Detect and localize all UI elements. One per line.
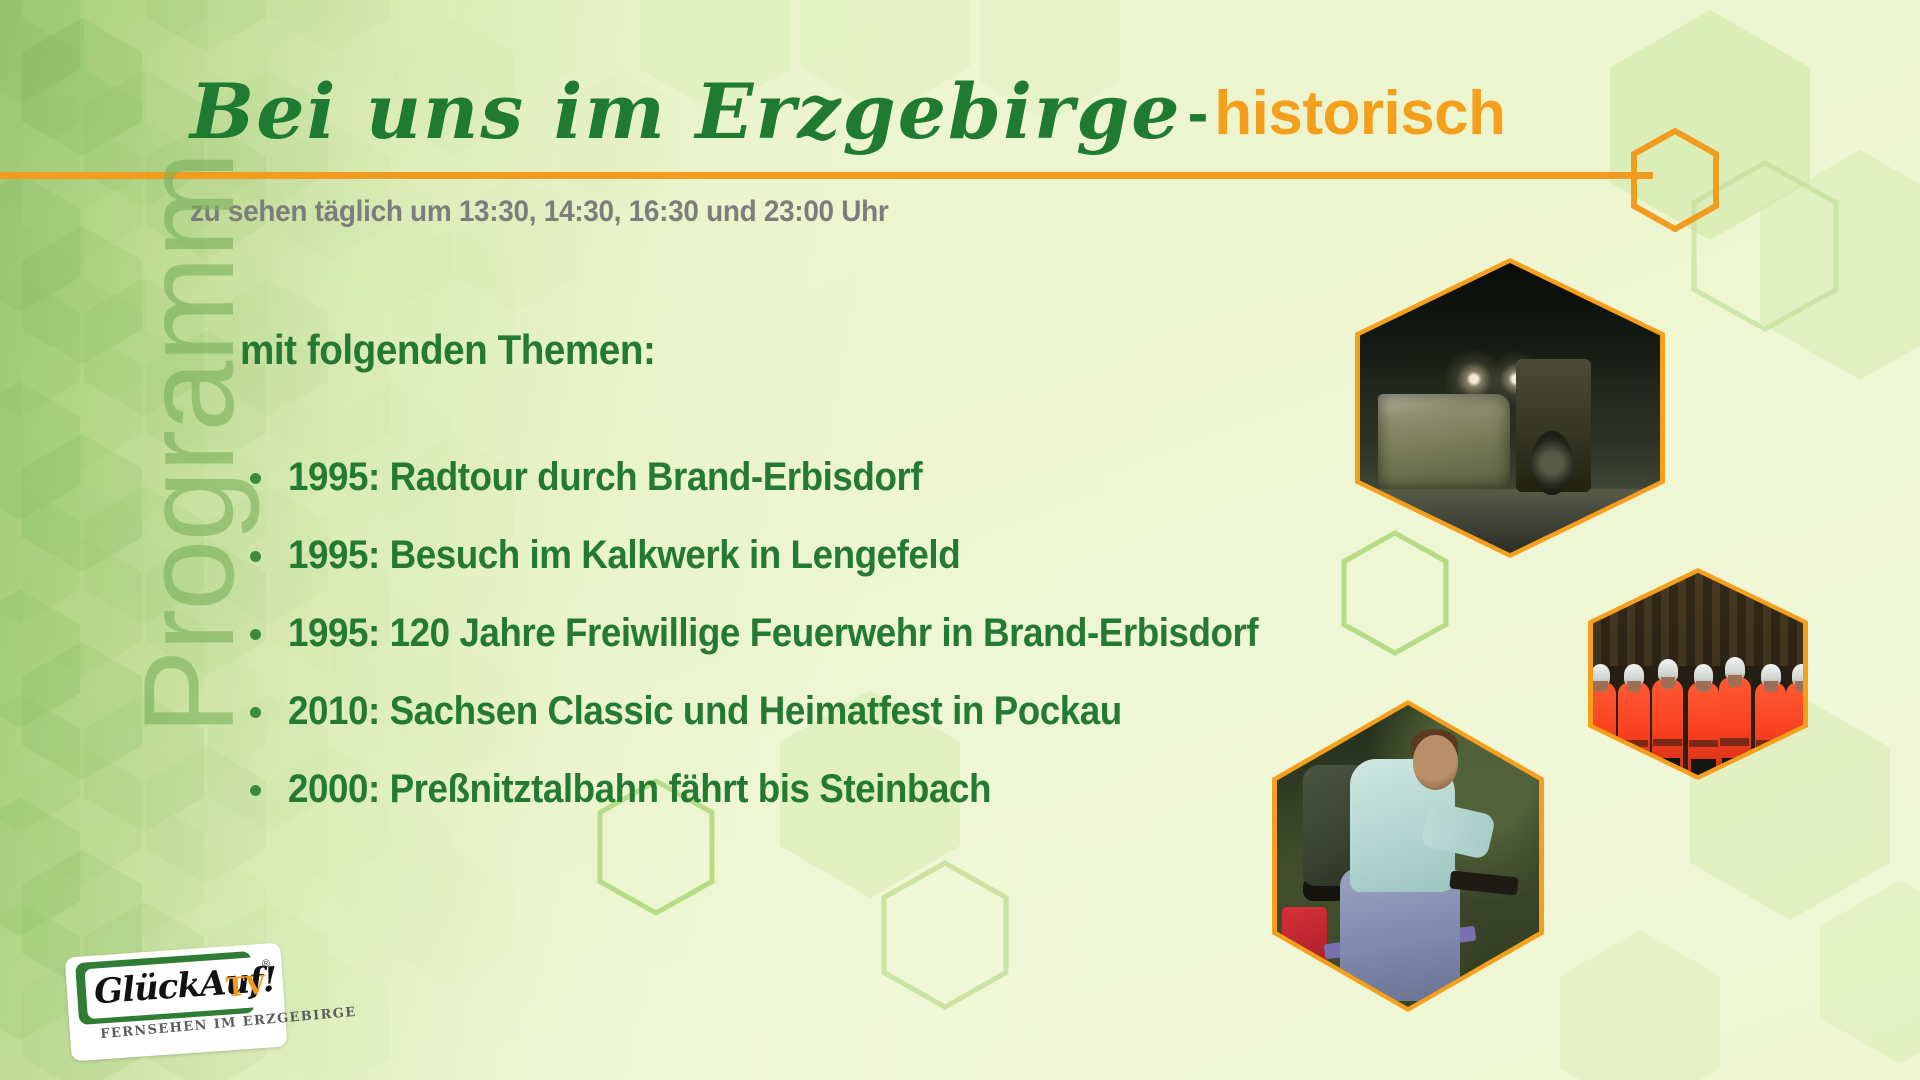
hexagon-photo-clip: 25. [1360,263,1660,553]
list-item: 1995: Besuch im Kalkwerk in Lengefeld [246,516,1426,594]
logo-registered-mark: ® [262,958,271,971]
firefighter [1618,650,1650,775]
loader-wheel [1531,431,1573,495]
list-item-label: 1995: Besuch im Kalkwerk in Lengefeld [288,516,960,594]
firefighter [1786,650,1803,775]
topics-list: 1995: Radtour durch Brand-Erbisdorf 1995… [246,438,1426,828]
list-item-label: 1995: 120 Jahre Freiwillige Feuerwehr in… [288,594,1258,672]
header-rule [0,172,1653,179]
page-title-dash: - [1182,79,1215,148]
list-item: 2000: Preßnitztalbahn fährt bis Steinbac… [246,750,1426,828]
photo-timestamp: 25. [1582,523,1624,547]
firefighter [1688,650,1720,775]
decorative-hexagon-outline [880,860,1010,1010]
logo-tv-mark: TV [225,971,267,1004]
cyclist-head [1413,735,1458,789]
list-item: 1995: 120 Jahre Freiwillige Feuerwehr in… [246,594,1426,672]
list-item-label: 2010: Sachsen Classic und Heimatfest in … [288,672,1122,750]
ground [1360,489,1660,553]
night-loader-scene: 25. [1360,263,1660,553]
list-item: 2010: Sachsen Classic und Heimatfest in … [246,672,1426,750]
list-item: 1995: Radtour durch Brand-Erbisdorf [246,438,1426,516]
page-title-main: Bei uns im Erzgebirge [190,67,1182,156]
loader-bucket [1378,394,1510,490]
header-rule-hexagon-icon [1630,128,1720,237]
page-title-accent: historisch [1214,79,1505,148]
list-item-label: 1995: Radtour durch Brand-Erbisdorf [288,438,922,516]
topics-intro-text: mit folgenden Themen: [240,326,655,374]
firefighter [1593,650,1616,775]
hexagon-photo-clip [1593,573,1803,775]
hexagon-photo-clip [1277,705,1539,1007]
page-title: Bei uns im Erzgebirge-historisch [190,74,1506,150]
slide-canvas: Bei uns im Erzgebirge-historisch zu sehe… [0,0,1920,1080]
cyclist-scene [1277,705,1539,1007]
firefighters-scene [1593,573,1803,775]
broadcast-times-subtitle: zu sehen täglich um 13:30, 14:30, 16:30 … [190,195,888,229]
glueckauf-tv-logo: GlückAuf! TV ® FERNSEHEN IM ERZGEBIRGE [68,950,284,1054]
list-item-label: 2000: Preßnitztalbahn fährt bis Steinbac… [288,750,991,828]
firefighter-row [1593,650,1803,775]
firefighters-photo [1588,568,1808,780]
night-loader-photo: 25. [1355,258,1665,558]
firefighter [1755,650,1787,775]
cyclist-photo [1272,700,1544,1012]
